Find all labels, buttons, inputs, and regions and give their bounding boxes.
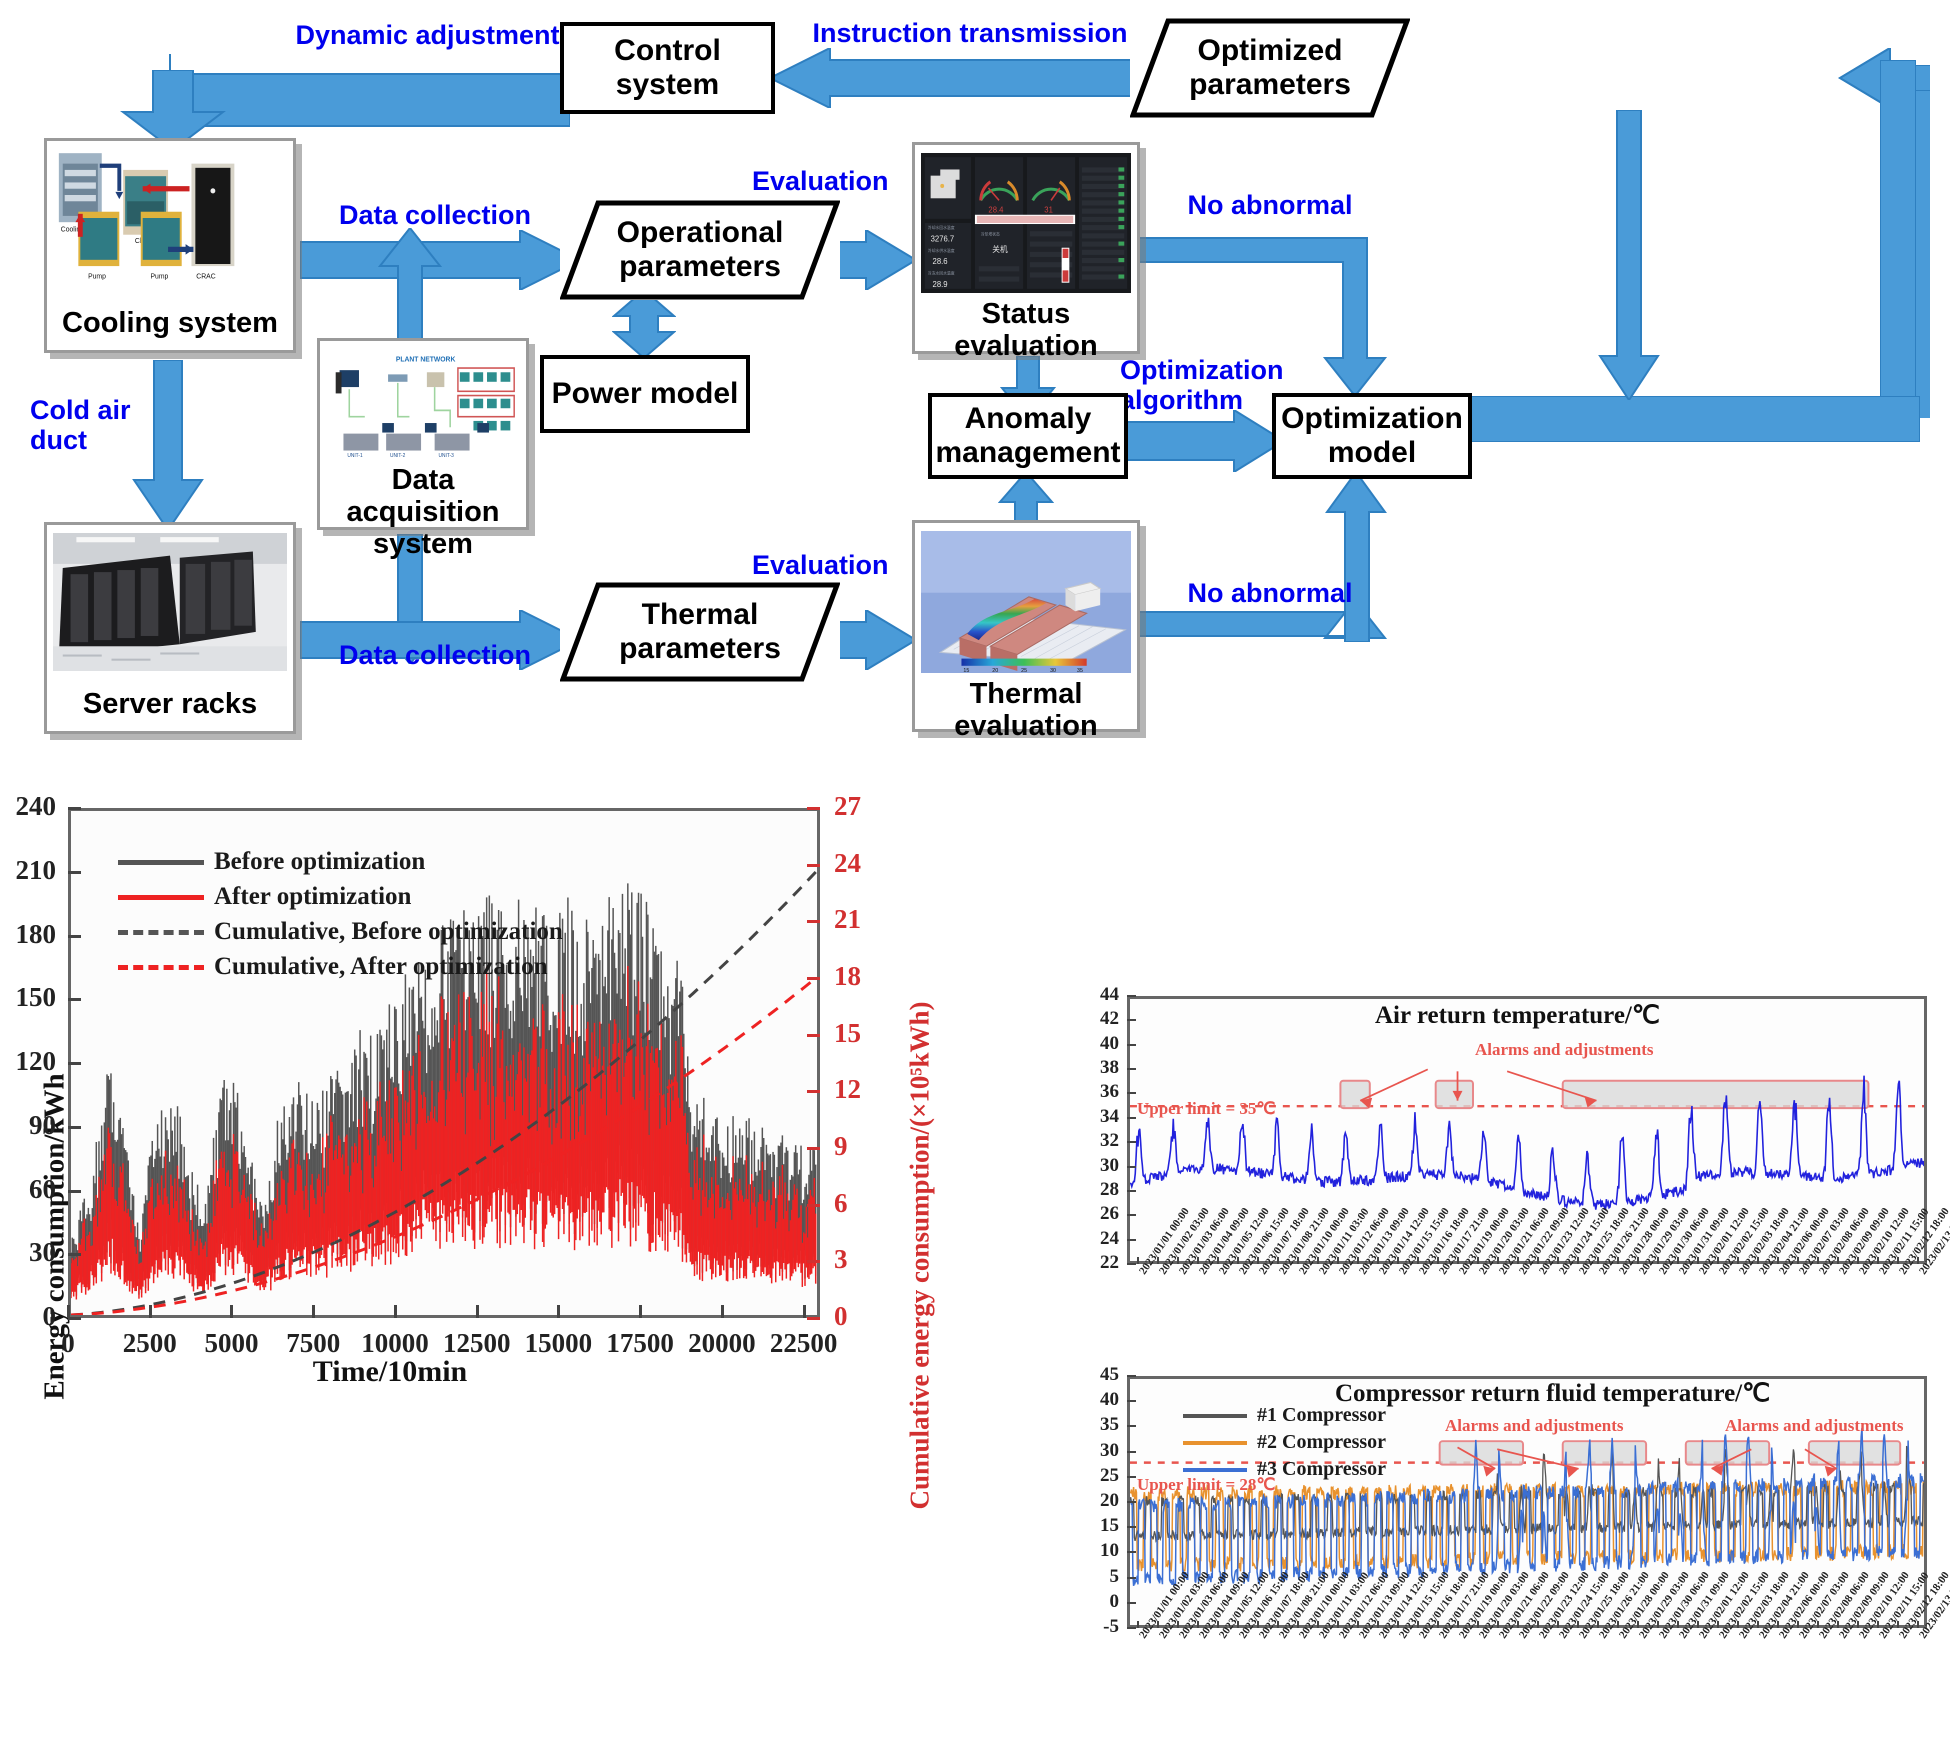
compressor-y-tick: 35 <box>1075 1414 1119 1436</box>
node-cooling-system[interactable]: Cooling Tower Chiller Pump Pump CRAC <box>44 138 296 353</box>
node-optimized-parameters-label: Optimized parameters <box>1189 34 1351 103</box>
node-optimized-parameters[interactable]: Optimized parameters <box>1130 18 1410 118</box>
compressor-y-tick: 5 <box>1075 1566 1119 1588</box>
chart-compressor-return-fluid-temperature: Compressor return fluid temperature/℃ Up… <box>1075 1370 1935 1710</box>
compressor-y-tickmark <box>1127 1425 1136 1427</box>
edge-label-data-collection-top: Data collection <box>320 200 550 230</box>
energy-y-tick: 210 <box>0 855 56 886</box>
node-operational-parameters[interactable]: Operational parameters <box>560 200 840 300</box>
compressor-y-tick: 45 <box>1075 1364 1119 1386</box>
energy-y-tick: 30 <box>0 1237 56 1268</box>
compressor-y-tickmark <box>1127 1476 1136 1478</box>
air-return-x-tickmark <box>1317 1257 1319 1264</box>
svg-text:28.6: 28.6 <box>933 257 949 266</box>
compressor-x-tickmark <box>1217 1621 1219 1628</box>
energy-x-tickmark <box>476 1305 479 1318</box>
air-return-x-tickmark <box>1697 1257 1699 1264</box>
air-return-x-tickmark <box>1877 1257 1879 1264</box>
edge-label-no-abnormal-bottom: No abnormal <box>1160 578 1380 608</box>
node-thermal-evaluation-label: Thermal evaluation <box>921 673 1131 747</box>
energy-x-tickmark <box>67 1305 70 1318</box>
energy-x-tickmark <box>557 1305 560 1318</box>
energy-y2-tickmark <box>807 1317 820 1320</box>
compressor-x-tickmark <box>1357 1621 1359 1628</box>
air-return-x-tickmark <box>1557 1257 1559 1264</box>
node-status-evaluation[interactable]: 28.4 31 冷却水回水温度 3276.7 冷却水供水温度 28.6 冷冻水回… <box>912 142 1140 354</box>
energy-y-tick: 150 <box>0 982 56 1013</box>
air-return-x-tickmark <box>1457 1257 1459 1264</box>
energy-y-tickmark <box>68 1062 81 1065</box>
energy-x-tickmark <box>803 1305 806 1318</box>
air-return-y-tickmark <box>1127 1263 1136 1265</box>
legend-label-compressor-1: #1 Compressor <box>1257 1404 1386 1427</box>
legend-item-compressor-3: #3 Compressor <box>1183 1458 1386 1481</box>
svg-text:25: 25 <box>1021 668 1027 673</box>
energy-x-tick: 22500 <box>756 1328 852 1359</box>
legend-item-compressor-2: #2 Compressor <box>1183 1431 1386 1454</box>
compressor-x-tickmark <box>1297 1621 1299 1628</box>
energy-y-tickmark <box>68 935 81 938</box>
node-power-model[interactable]: Power model <box>540 355 750 433</box>
energy-y-tickmark <box>68 871 81 874</box>
air-return-title: Air return temperature/℃ <box>1375 1000 1660 1030</box>
compressor-y-tickmark <box>1127 1526 1136 1528</box>
air-return-x-tickmark <box>1217 1257 1219 1264</box>
compressor-x-tickmark <box>1897 1621 1899 1628</box>
compressor-x-tickmark <box>1877 1621 1879 1628</box>
legend-swatch-compressor-1 <box>1183 1414 1247 1418</box>
energy-y2-tickmark <box>807 1147 820 1150</box>
air-return-y-tick: 32 <box>1075 1130 1119 1152</box>
compressor-x-tickmark <box>1337 1621 1339 1628</box>
edge-label-dynamic-adjustments: Dynamic adjustments <box>270 20 600 50</box>
legend-item-before: Before optimization <box>118 848 563 876</box>
compressor-y-tick: 0 <box>1075 1591 1119 1613</box>
air-return-x-tickmark <box>1597 1257 1599 1264</box>
air-return-x-tickmark <box>1717 1257 1719 1264</box>
compressor-y-tick: 10 <box>1075 1540 1119 1562</box>
svg-text:15: 15 <box>963 668 969 673</box>
node-optimization-model[interactable]: Optimization model <box>1272 393 1472 479</box>
svg-text:UNIT-1: UNIT-1 <box>347 453 363 459</box>
node-data-acquisition-system[interactable]: PLANT NETWORK <box>317 338 529 530</box>
compressor-x-tickmark <box>1377 1621 1379 1628</box>
energy-x-tickmark <box>721 1305 724 1318</box>
air-return-x-tickmark <box>1377 1257 1379 1264</box>
air-return-x-tickmark <box>1497 1257 1499 1264</box>
air-return-x-tickmark <box>1237 1257 1239 1264</box>
energy-y2-tickmark <box>807 1034 820 1037</box>
legend-label-compressor-2: #2 Compressor <box>1257 1431 1386 1454</box>
arrow-no-abnormal-bottom-riser <box>1325 472 1387 642</box>
compressor-x-tickmark <box>1597 1621 1599 1628</box>
air-return-y-tickmark <box>1127 1044 1136 1046</box>
node-status-evaluation-label: Status evaluation <box>921 293 1131 367</box>
compressor-x-tickmark <box>1577 1621 1579 1628</box>
compressor-y-tick: 40 <box>1075 1389 1119 1411</box>
legend-swatch-compressor-3 <box>1183 1468 1247 1472</box>
compressor-annotation-1: Alarms and adjustments <box>1445 1416 1624 1436</box>
air-return-x-tickmark <box>1297 1257 1299 1264</box>
air-return-x-tickmark <box>1197 1257 1199 1264</box>
node-control-system[interactable]: Control system <box>560 22 775 114</box>
air-return-x-tickmark <box>1617 1257 1619 1264</box>
compressor-x-tickmark <box>1517 1621 1519 1628</box>
edge-label-instruction-transmission: Instruction transmission <box>800 18 1140 48</box>
svg-text:Pump: Pump <box>88 273 106 280</box>
energy-y-tick: 90 <box>0 1110 56 1141</box>
compressor-y-tickmark <box>1127 1577 1136 1579</box>
node-thermal-parameters[interactable]: Thermal parameters <box>560 582 840 682</box>
data-acquisition-thumbnail: PLANT NETWORK <box>326 349 520 459</box>
arrow-optimization-algorithm <box>1124 410 1284 472</box>
air-return-x-tickmark <box>1857 1257 1859 1264</box>
air-return-x-tickmark <box>1777 1257 1779 1264</box>
legend-label-cumulative-before: Cumulative, Before optimization <box>214 918 563 946</box>
energy-y-tick: 60 <box>0 1174 56 1205</box>
compressor-x-tickmark <box>1617 1621 1619 1628</box>
energy-y-tickmark <box>68 807 81 810</box>
compressor-legend: #1 Compressor #2 Compressor #3 Compresso… <box>1183 1404 1386 1485</box>
air-return-x-tickmark <box>1357 1257 1359 1264</box>
energy-y2-tickmark <box>807 807 820 810</box>
compressor-x-tickmark <box>1157 1621 1159 1628</box>
air-return-y-tickmark <box>1127 1068 1136 1070</box>
legend-item-cumulative-before: Cumulative, Before optimization <box>118 918 563 946</box>
compressor-y-tickmark <box>1127 1627 1136 1629</box>
compressor-x-tickmark <box>1797 1621 1799 1628</box>
energy-x-tickmark <box>149 1305 152 1318</box>
compressor-x-tickmark <box>1417 1621 1419 1628</box>
air-return-y-tickmark <box>1127 1190 1136 1192</box>
compressor-y-tickmark <box>1127 1400 1136 1402</box>
legend-item-compressor-1: #1 Compressor <box>1183 1404 1386 1427</box>
legend-item-after: After optimization <box>118 883 563 911</box>
energy-y-tickmark <box>68 1190 81 1193</box>
compressor-x-tickmark <box>1697 1621 1699 1628</box>
energy-chart-xlabel: Time/10min <box>230 1355 550 1389</box>
air-return-x-tickmark <box>1837 1257 1839 1264</box>
compressor-x-tickmark <box>1857 1621 1859 1628</box>
energy-y2-tickmark <box>807 864 820 867</box>
air-return-x-tickmark <box>1657 1257 1659 1264</box>
air-return-y-tick: 36 <box>1075 1081 1119 1103</box>
legend-label-compressor-3: #3 Compressor <box>1257 1458 1386 1481</box>
energy-x-tickmark <box>230 1305 233 1318</box>
air-return-y-tickmark <box>1127 1117 1136 1119</box>
energy-x-tickmark <box>394 1305 397 1318</box>
node-thermal-evaluation[interactable]: 15 20 25 30 35 Thermal evaluation <box>912 520 1140 732</box>
compressor-y-tick: 15 <box>1075 1515 1119 1537</box>
energy-y2-tick: 18 <box>834 961 882 992</box>
compressor-x-tickmark <box>1257 1621 1259 1628</box>
svg-text:UNIT-2: UNIT-2 <box>390 453 406 459</box>
air-return-x-tickmark <box>1277 1257 1279 1264</box>
compressor-x-tickmark <box>1197 1621 1199 1628</box>
compressor-title: Compressor return fluid temperature/℃ <box>1335 1378 1770 1408</box>
air-return-x-tickmark <box>1477 1257 1479 1264</box>
svg-text:PLANT NETWORK: PLANT NETWORK <box>396 355 456 363</box>
energy-y-tick: 240 <box>0 791 56 822</box>
node-data-acquisition-label: Data acquisition system <box>326 459 520 565</box>
energy-x-tickmark <box>312 1305 315 1318</box>
legend-swatch-cumulative-before <box>118 930 204 935</box>
compressor-y-tick: -5 <box>1075 1616 1119 1638</box>
compressor-x-tickmark <box>1757 1621 1759 1628</box>
air-return-y-tickmark <box>1127 995 1136 997</box>
legend-swatch-compressor-2 <box>1183 1441 1247 1445</box>
compressor-y-tickmark <box>1127 1602 1136 1604</box>
svg-text:冷冻水回水温度: 冷冻水回水温度 <box>928 270 955 275</box>
compressor-x-tickmark <box>1557 1621 1559 1628</box>
air-return-y-tickmark <box>1127 1092 1136 1094</box>
air-return-x-tickmark <box>1517 1257 1519 1264</box>
compressor-y-tick: 30 <box>1075 1440 1119 1462</box>
air-return-y-tickmark <box>1127 1141 1136 1143</box>
compressor-x-tickmark <box>1397 1621 1399 1628</box>
energy-x-tickmark <box>639 1305 642 1318</box>
node-cooling-system-label: Cooling system <box>62 302 278 344</box>
energy-y-tick: 180 <box>0 919 56 950</box>
legend-label-after: After optimization <box>214 883 411 911</box>
svg-text:Pump: Pump <box>151 273 169 280</box>
energy-y2-tick: 9 <box>834 1131 882 1162</box>
energy-y2-tick: 12 <box>834 1074 882 1105</box>
edge-label-no-abnormal-top: No abnormal <box>1160 190 1380 220</box>
air-return-x-tickmark <box>1437 1257 1439 1264</box>
air-return-x-tickmark <box>1817 1257 1819 1264</box>
energy-y-tick: 120 <box>0 1046 56 1077</box>
server-racks-thumbnail <box>53 533 287 671</box>
compressor-x-tickmark <box>1477 1621 1479 1628</box>
node-operational-parameters-label: Operational parameters <box>617 216 784 285</box>
air-return-annotation: Alarms and adjustments <box>1475 1040 1654 1060</box>
air-return-y-tick: 42 <box>1075 1008 1119 1030</box>
air-return-y-tickmark <box>1127 1214 1136 1216</box>
air-return-y-tick: 44 <box>1075 984 1119 1006</box>
air-return-x-tickmark <box>1537 1257 1539 1264</box>
energy-y-tickmark <box>68 1126 81 1129</box>
node-anomaly-management[interactable]: Anomaly management <box>928 393 1128 479</box>
compressor-x-tickmark <box>1837 1621 1839 1628</box>
air-return-y-tick: 40 <box>1075 1033 1119 1055</box>
air-return-y-tick: 30 <box>1075 1155 1119 1177</box>
energy-y2-tick: 27 <box>834 791 882 822</box>
energy-y2-tick: 3 <box>834 1244 882 1275</box>
node-thermal-parameters-label: Thermal parameters <box>619 598 781 667</box>
node-server-racks-label: Server racks <box>83 683 257 725</box>
compressor-x-tickmark <box>1537 1621 1539 1628</box>
energy-y2-tick: 24 <box>834 848 882 879</box>
edge-label-data-collection-bottom: Data collection <box>320 640 550 670</box>
arrow-optimized-down-to-model <box>1598 110 1660 400</box>
energy-chart-legend: Before optimization After optimization C… <box>118 848 563 988</box>
thermal-evaluation-thumbnail: 15 20 25 30 35 <box>921 531 1131 673</box>
edge-label-cold-air-duct: Cold air duct <box>30 395 180 455</box>
svg-text:冷却水供水温度: 冷却水供水温度 <box>928 248 955 253</box>
svg-text:CRAC: CRAC <box>196 273 215 280</box>
compressor-y-tick: 25 <box>1075 1465 1119 1487</box>
energy-chart-y2label: Cumulative energy consumption/(×10⁵kWh) <box>905 976 936 1536</box>
energy-y2-tickmark <box>807 977 820 980</box>
air-return-x-tickmark <box>1737 1257 1739 1264</box>
air-return-x-tickmark <box>1337 1257 1339 1264</box>
air-return-x-tickmark <box>1577 1257 1579 1264</box>
energy-y-tickmark <box>68 998 81 1001</box>
compressor-y-tickmark <box>1127 1451 1136 1453</box>
legend-label-before: Before optimization <box>214 848 425 876</box>
compressor-y-tickmark <box>1127 1375 1136 1377</box>
air-return-plot-area <box>1127 996 1927 1264</box>
chart-energy-consumption: Energy consumption/kWh Cumulative energy… <box>0 790 880 1740</box>
svg-text:28.9: 28.9 <box>933 280 949 289</box>
compressor-x-tickmark <box>1137 1621 1139 1628</box>
air-return-x-tickmark <box>1677 1257 1679 1264</box>
compressor-x-tickmark <box>1177 1621 1179 1628</box>
svg-text:35: 35 <box>1077 668 1083 673</box>
compressor-x-tickmark <box>1677 1621 1679 1628</box>
compressor-x-tickmark <box>1917 1621 1919 1628</box>
air-return-y-tick: 28 <box>1075 1179 1119 1201</box>
air-return-y-tickmark <box>1127 1239 1136 1241</box>
energy-y2-tickmark <box>807 920 820 923</box>
legend-swatch-cumulative-after <box>118 965 204 970</box>
air-return-x-tickmark <box>1897 1257 1899 1264</box>
svg-text:关机: 关机 <box>992 244 1007 254</box>
svg-text:31: 31 <box>1044 205 1053 214</box>
compressor-x-tickmark <box>1457 1621 1459 1628</box>
air-return-x-tickmark <box>1797 1257 1799 1264</box>
air-return-x-tickmark <box>1177 1257 1179 1264</box>
compressor-y-tick: 20 <box>1075 1490 1119 1512</box>
compressor-annotation-2: Alarms and adjustments <box>1725 1416 1904 1436</box>
air-return-y-tick: 22 <box>1075 1252 1119 1274</box>
energy-y2-tickmark <box>807 1260 820 1263</box>
svg-text:UNIT-3: UNIT-3 <box>439 453 455 459</box>
air-return-x-tickmark <box>1417 1257 1419 1264</box>
legend-item-cumulative-after: Cumulative, After optimization <box>118 953 563 981</box>
system-block-diagram: Dynamic adjustments Instruction transmis… <box>0 0 1950 770</box>
svg-text:30: 30 <box>1050 668 1056 673</box>
svg-text:冷却塔状态: 冷却塔状态 <box>981 231 1000 236</box>
legend-swatch-after <box>118 895 204 900</box>
air-return-y-tick: 24 <box>1075 1228 1119 1250</box>
svg-text:冷却水回水温度: 冷却水回水温度 <box>928 225 955 230</box>
air-return-x-tickmark <box>1637 1257 1639 1264</box>
compressor-y-tickmark <box>1127 1501 1136 1503</box>
legend-swatch-before <box>118 860 204 865</box>
svg-text:20: 20 <box>992 668 998 673</box>
compressor-x-tickmark <box>1637 1621 1639 1628</box>
compressor-x-tickmark <box>1497 1621 1499 1628</box>
energy-y-tickmark <box>68 1253 81 1256</box>
arrow-right-bottom-connector <box>1470 396 1920 442</box>
air-return-y-tick: 34 <box>1075 1106 1119 1128</box>
compressor-x-tickmark <box>1717 1621 1719 1628</box>
arrow-instruction-transmission <box>770 48 1160 108</box>
air-return-y-tickmark <box>1127 1166 1136 1168</box>
status-evaluation-thumbnail: 28.4 31 冷却水回水温度 3276.7 冷却水供水温度 28.6 冷冻水回… <box>921 153 1131 293</box>
cooling-system-thumbnail: Cooling Tower Chiller Pump Pump CRAC <box>53 149 287 287</box>
compressor-x-tickmark <box>1657 1621 1659 1628</box>
compressor-x-tickmark <box>1437 1621 1439 1628</box>
air-return-threshold-label: Upper limit = 35℃ <box>1137 1099 1276 1119</box>
air-return-y-tick: 26 <box>1075 1203 1119 1225</box>
energy-y2-tick: 15 <box>834 1018 882 1049</box>
compressor-x-tickmark <box>1237 1621 1239 1628</box>
node-server-racks[interactable]: Server racks <box>44 522 296 734</box>
energy-y2-tick: 6 <box>834 1188 882 1219</box>
arrow-operational-power-model <box>612 290 676 358</box>
air-return-x-tickmark <box>1917 1257 1919 1264</box>
compressor-x-tickmark <box>1777 1621 1779 1628</box>
air-return-y-tick: 38 <box>1075 1057 1119 1079</box>
air-return-x-tickmark <box>1397 1257 1399 1264</box>
air-return-x-tickmark <box>1137 1257 1139 1264</box>
arrow-right-riser <box>1880 60 1916 420</box>
compressor-x-tickmark <box>1277 1621 1279 1628</box>
compressor-y-tickmark <box>1127 1551 1136 1553</box>
svg-text:28.4: 28.4 <box>988 205 1004 214</box>
energy-y2-tickmark <box>807 1090 820 1093</box>
air-return-x-tickmark <box>1257 1257 1259 1264</box>
air-return-y-tickmark <box>1127 1019 1136 1021</box>
compressor-x-tickmark <box>1317 1621 1319 1628</box>
energy-y2-tick: 21 <box>834 904 882 935</box>
energy-y2-tickmark <box>807 1204 820 1207</box>
air-return-x-tickmark <box>1757 1257 1759 1264</box>
svg-text:3276.7: 3276.7 <box>931 234 955 243</box>
chart-air-return-temperature: Air return temperature/℃ Upper limit = 3… <box>1075 990 1935 1300</box>
air-return-x-tickmark <box>1157 1257 1159 1264</box>
legend-label-cumulative-after: Cumulative, After optimization <box>214 953 548 981</box>
compressor-x-tickmark <box>1737 1621 1739 1628</box>
compressor-x-tickmark <box>1817 1621 1819 1628</box>
